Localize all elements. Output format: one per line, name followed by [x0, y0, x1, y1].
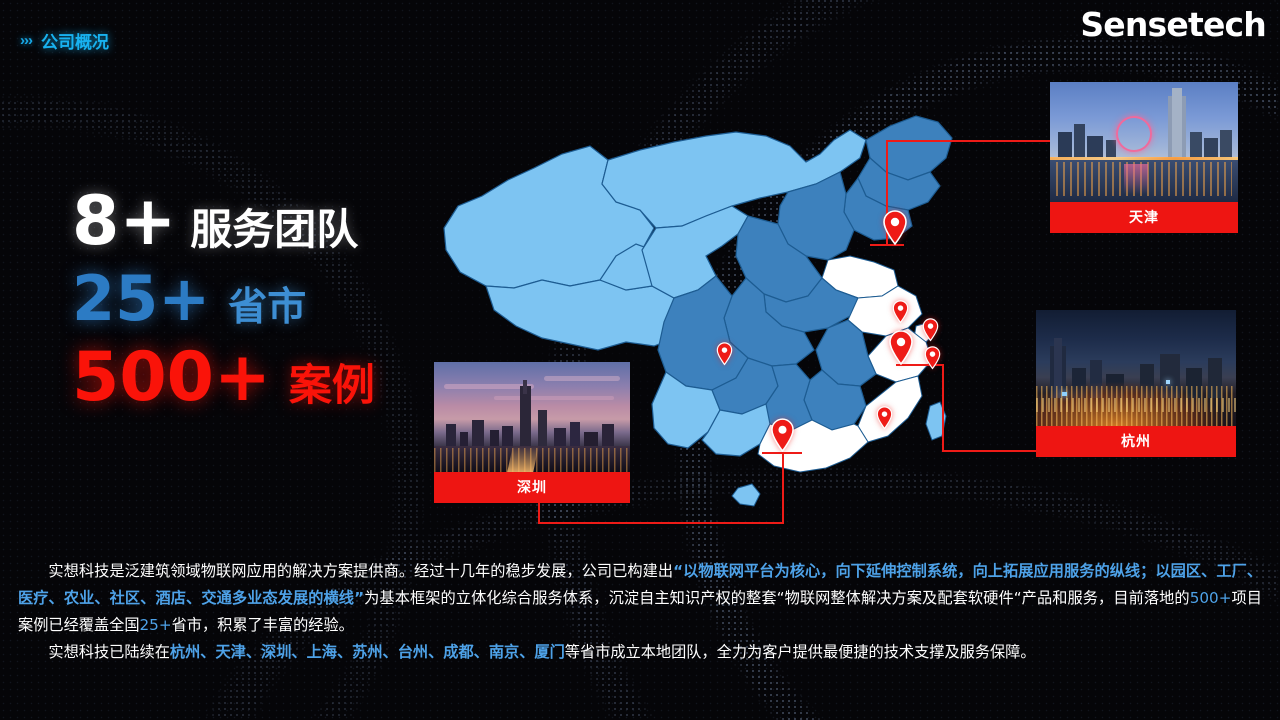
city-card-hangzhou[interactable]: 杭州 [1036, 310, 1236, 457]
connector-hangzhou-vertical [942, 364, 944, 452]
city-photo-hangzhou [1036, 310, 1236, 426]
p1-part-a: 实想科技是泛建筑领域物联网应用的解决方案提供商。经过十几年的稳步发展，公司已构建… [48, 562, 673, 580]
paragraph-2: 实想科技已陆续在杭州、天津、深圳、上海、苏州、台州、成都、南京、厦门等省市成立本… [18, 639, 1262, 666]
stat-label: 案例 [289, 365, 375, 408]
page-header: ››› 公司概况 Sensetech [0, 0, 1280, 62]
city-label-hangzhou: 杭州 [1036, 426, 1236, 457]
ningbo-pin[interactable] [924, 346, 941, 370]
p2-part-b: 等省市成立本地团队，全力为客户提供最便捷的技术支撑及服务保障。 [565, 643, 1036, 661]
stat-number: 8+ [72, 188, 176, 256]
connector-shenzhen-vertical [782, 452, 784, 524]
chengdu-pin[interactable] [716, 342, 733, 366]
map-province-hainan [732, 484, 760, 506]
paragraph-1: 实想科技是泛建筑领域物联网应用的解决方案提供商。经过十几年的稳步发展，公司已构建… [18, 558, 1262, 639]
hangzhou-pin[interactable] [888, 330, 914, 366]
shenzhen-pin[interactable] [770, 418, 795, 453]
stat-label: 省市 [228, 288, 306, 327]
city-label-shenzhen: 深圳 [434, 472, 630, 503]
city-card-tianjin[interactable]: 天津 [1050, 82, 1238, 233]
p1-number-cases: 500+ [1190, 589, 1232, 607]
city-photo-tianjin [1050, 82, 1238, 202]
suzhou-pin[interactable] [892, 300, 909, 324]
stat-item-provinces: 25+ 省市 [72, 268, 432, 330]
p1-number-provinces: 25+ [140, 616, 172, 634]
stat-number: 25+ [72, 268, 210, 330]
city-photo-shenzhen [434, 362, 630, 472]
stat-item-cases: 500+ 案例 [72, 344, 432, 412]
connector-shenzhen-horizontal [538, 522, 784, 524]
shanghai-pin[interactable] [922, 318, 939, 342]
p2-part-a: 实想科技已陆续在 [48, 643, 170, 661]
page-title: 公司概况 [41, 28, 109, 53]
p1-part-b: 为基本框架的立体化综合服务体系，沉淀自主知识产权的整套“物联网整体解决方案及配套… [364, 589, 1190, 607]
p1-part-d: 省市，积累了丰富的经验。 [172, 616, 354, 634]
description-text: 实想科技是泛建筑领域物联网应用的解决方案提供商。经过十几年的稳步发展，公司已构建… [0, 558, 1280, 666]
section-tag: ››› 公司概况 [20, 28, 109, 53]
city-label-tianjin: 天津 [1050, 202, 1238, 233]
stat-number: 500+ [72, 344, 271, 412]
tianjin-pin[interactable] [882, 210, 908, 246]
brand-logo: Sensetech [1080, 5, 1266, 44]
connector-tianjin-horizontal [886, 140, 1052, 142]
statistics-group: 8+ 服务团队 25+ 省市 500+ 案例 [72, 188, 432, 418]
stat-label: 服务团队 [190, 209, 358, 251]
xiamen-pin[interactable] [876, 406, 893, 430]
chevron-right-icon: ››› [20, 32, 32, 49]
p2-city-list: 杭州、天津、深圳、上海、苏州、台州、成都、南京、厦门 [170, 643, 565, 661]
stat-item-teams: 8+ 服务团队 [72, 188, 432, 256]
city-card-shenzhen[interactable]: 深圳 [434, 362, 630, 503]
